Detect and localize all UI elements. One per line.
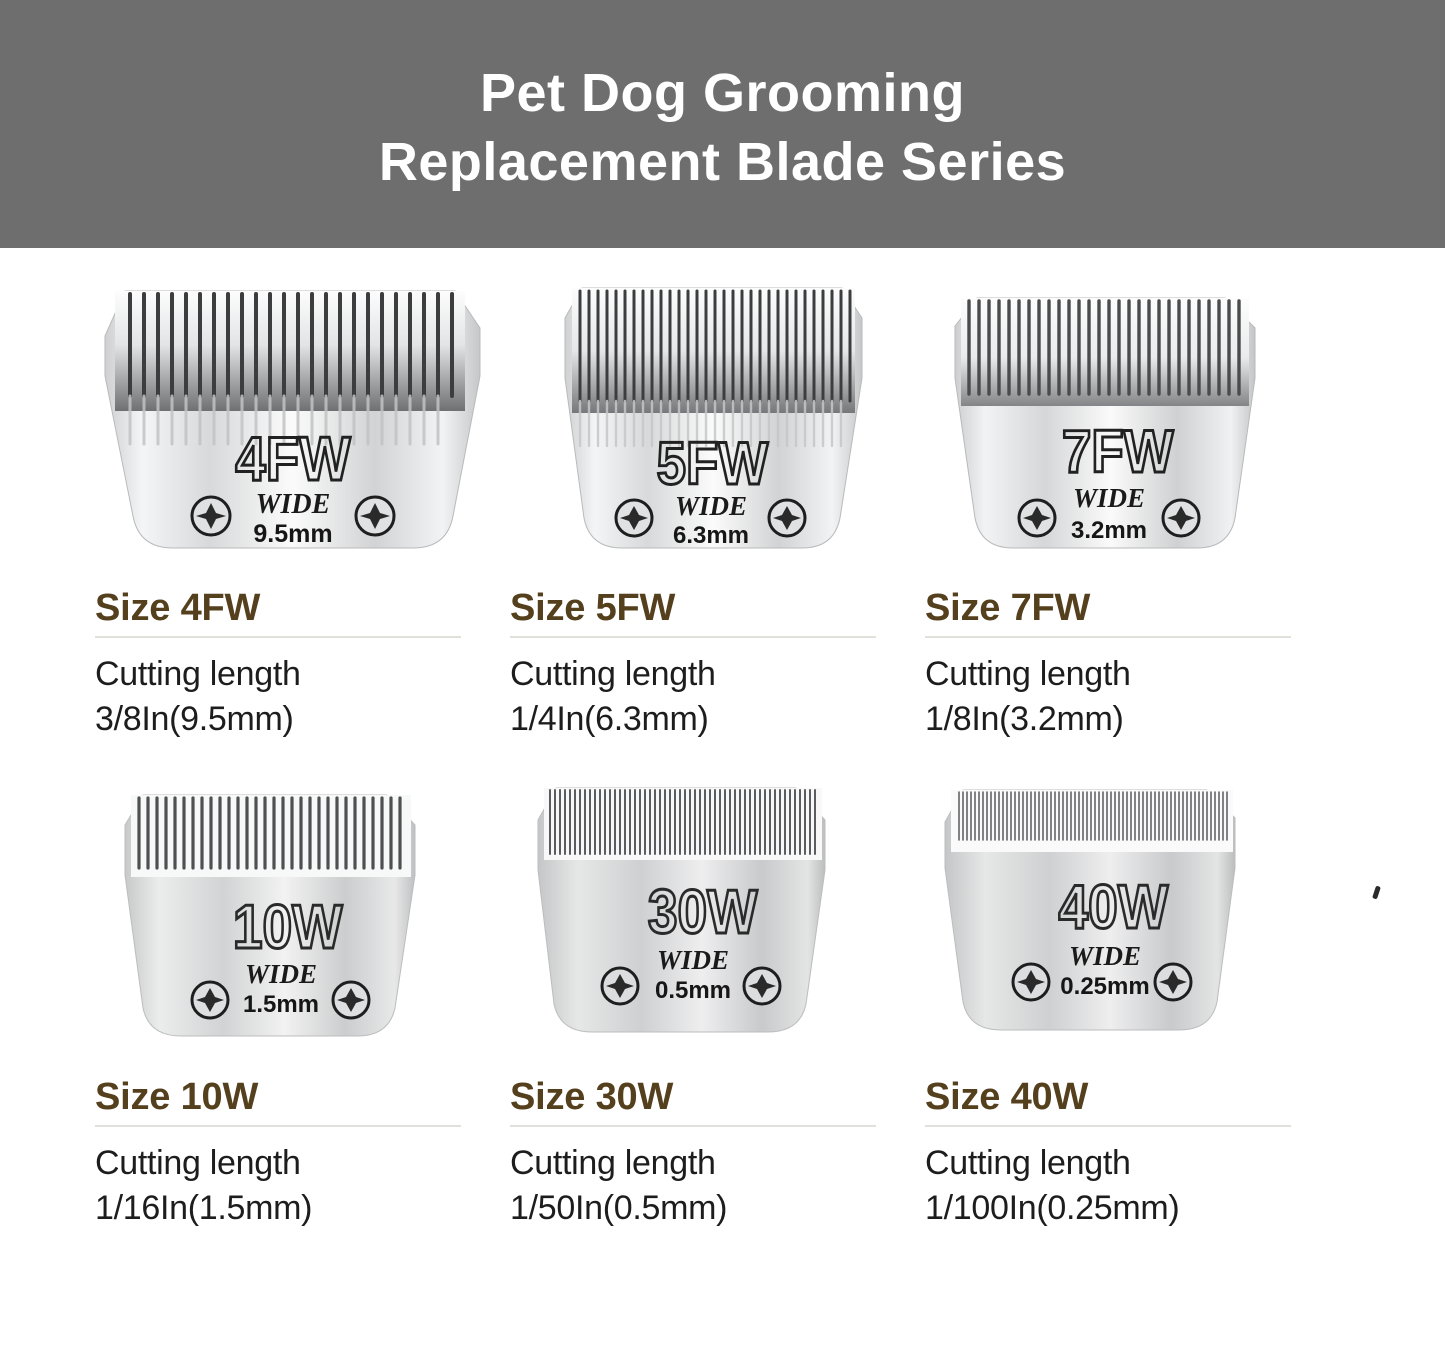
blade-illustration-10w: 10W WIDE 1.5mm: [95, 770, 490, 1055]
size-info-5fw: Size 5FW Cutting length 1/4In(6.3mm): [510, 588, 910, 742]
blade-engraving-mm-7fw: 3.2mm: [1071, 517, 1147, 544]
blade-illustration-5fw: 5FW WIDE 6.3mm: [510, 266, 905, 566]
size-desc-line1-10w: Cutting length: [95, 1141, 495, 1186]
blade-engraving-mm-40w: 0.25mm: [1060, 973, 1149, 1000]
blade-row-top: 4FW WIDE 9.5mm Size 4FW C: [0, 248, 1445, 742]
size-desc-line2-30w: 1/50In(0.5mm): [510, 1186, 910, 1231]
page-title-line-2: Replacement Blade Series: [379, 128, 1066, 197]
size-title-5fw: Size 5FW: [510, 588, 910, 629]
blade-image-5fw: 5FW WIDE 6.3mm: [510, 266, 905, 566]
size-desc-line2-7fw: 1/8In(3.2mm): [925, 697, 1325, 742]
blade-grid: 4FW WIDE 9.5mm Size 4FW C: [0, 248, 1445, 1231]
blade-engraving-size-40w: 40W: [1059, 873, 1169, 942]
screw-right-40w: [1155, 964, 1191, 1000]
blade-engraving-size-7fw: 7FW: [1062, 418, 1174, 485]
blade-illustration-4fw: 4FW WIDE 9.5mm: [95, 266, 490, 566]
size-divider-7fw: [925, 636, 1291, 638]
size-desc-line1-4fw: Cutting length: [95, 652, 495, 697]
size-info-4fw: Size 4FW Cutting length 3/8In(9.5mm): [95, 588, 495, 742]
size-desc-line1-40w: Cutting length: [925, 1141, 1325, 1186]
size-info-10w: Size 10W Cutting length 1/16In(1.5mm): [95, 1077, 495, 1231]
size-divider-10w: [95, 1125, 461, 1127]
size-desc-line1-7fw: Cutting length: [925, 652, 1325, 697]
blade-engraving-size-4fw: 4FW: [235, 425, 351, 494]
blade-card-30w[interactable]: 30W WIDE 0.5mm Size 30W Cutting leng: [510, 770, 925, 1231]
blade-engraving-mm-4fw: 9.5mm: [253, 520, 332, 548]
screw-right-5fw: [769, 500, 805, 536]
blade-image-30w: 30W WIDE 0.5mm: [510, 770, 905, 1055]
blade-engraving-size-5fw: 5FW: [657, 430, 769, 497]
screw-left-40w: [1013, 964, 1049, 1000]
screw-left-30w: [602, 968, 638, 1004]
size-title-40w: Size 40W: [925, 1077, 1325, 1118]
blade-engraving-wide-30w: WIDE: [657, 945, 729, 975]
screw-left-4fw: [192, 497, 230, 535]
size-desc-line2-10w: 1/16In(1.5mm): [95, 1186, 495, 1231]
size-desc-line2-4fw: 3/8In(9.5mm): [95, 697, 495, 742]
size-desc-line1-5fw: Cutting length: [510, 652, 910, 697]
blade-engraving-size-30w: 30W: [648, 878, 758, 947]
blade-engraving-mm-5fw: 6.3mm: [673, 522, 749, 549]
size-desc-line2-40w: 1/100In(0.25mm): [925, 1186, 1325, 1231]
size-title-10w: Size 10W: [95, 1077, 495, 1118]
blade-engraving-size-10w: 10W: [233, 893, 343, 962]
size-divider-30w: [510, 1125, 876, 1127]
blade-engraving-wide-7fw: WIDE: [1073, 483, 1145, 513]
screw-right-30w: [744, 968, 780, 1004]
blade-card-10w[interactable]: 10W WIDE 1.5mm Size 10W Cutting leng: [95, 770, 510, 1231]
blade-engraving-mm-30w: 0.5mm: [655, 977, 731, 1004]
size-divider-40w: [925, 1125, 1291, 1127]
blade-illustration-40w: 40W WIDE 0.25mm: [925, 770, 1320, 1055]
blade-image-40w: 40W WIDE 0.25mm: [925, 770, 1320, 1055]
blade-engraving-wide-5fw: WIDE: [675, 491, 747, 521]
screw-right-4fw: [356, 497, 394, 535]
blade-card-7fw[interactable]: 7FW WIDE 3.2mm Size 7FW Cutting leng: [925, 266, 1340, 742]
screw-right-7fw: [1163, 500, 1199, 536]
size-info-30w: Size 30W Cutting length 1/50In(0.5mm): [510, 1077, 910, 1231]
size-desc-line2-5fw: 1/4In(6.3mm): [510, 697, 910, 742]
blade-image-4fw: 4FW WIDE 9.5mm: [95, 266, 490, 566]
page-title-line-1: Pet Dog Grooming: [480, 59, 965, 128]
blade-engraving-wide-40w: WIDE: [1069, 941, 1141, 971]
blade-card-5fw[interactable]: 5FW WIDE 6.3mm Size 5FW Cutting leng: [510, 266, 925, 742]
screw-left-10w: [192, 982, 228, 1018]
screw-left-7fw: [1019, 500, 1055, 536]
blade-card-4fw[interactable]: 4FW WIDE 9.5mm Size 4FW C: [95, 266, 510, 742]
size-title-7fw: Size 7FW: [925, 588, 1325, 629]
blade-image-10w: 10W WIDE 1.5mm: [95, 770, 490, 1055]
size-title-4fw: Size 4FW: [95, 588, 495, 629]
blade-engraving-wide-4fw: WIDE: [256, 489, 331, 520]
size-info-40w: Size 40W Cutting length 1/100In(0.25mm): [925, 1077, 1325, 1231]
screw-left-5fw: [616, 500, 652, 536]
screw-right-10w: [333, 982, 369, 1018]
blade-engraving-mm-10w: 1.5mm: [243, 991, 319, 1018]
size-divider-4fw: [95, 636, 461, 638]
size-desc-line1-30w: Cutting length: [510, 1141, 910, 1186]
size-divider-5fw: [510, 636, 876, 638]
blade-image-7fw: 7FW WIDE 3.2mm: [925, 266, 1320, 566]
size-info-7fw: Size 7FW Cutting length 1/8In(3.2mm): [925, 588, 1325, 742]
size-title-30w: Size 30W: [510, 1077, 910, 1118]
blade-card-40w[interactable]: 40W WIDE 0.25mm Size 40W Cutting len: [925, 770, 1340, 1231]
blade-illustration-7fw: 7FW WIDE 3.2mm: [925, 266, 1320, 566]
blade-illustration-30w: 30W WIDE 0.5mm: [510, 770, 905, 1055]
blade-row-bottom: 10W WIDE 1.5mm Size 10W Cutting leng: [0, 742, 1445, 1231]
header-banner: Pet Dog Grooming Replacement Blade Serie…: [0, 0, 1445, 248]
blade-engraving-wide-10w: WIDE: [245, 959, 317, 989]
